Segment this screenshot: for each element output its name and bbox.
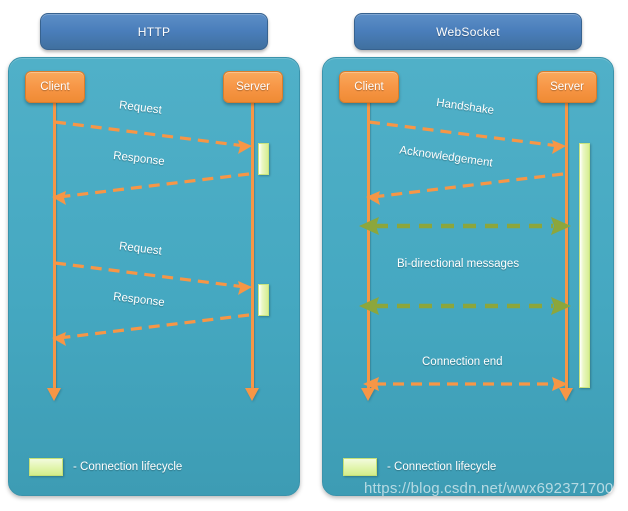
panel-websocket: WebSocket Client Server <box>314 0 628 511</box>
legend-label-http: - Connection lifecycle <box>73 461 182 473</box>
actor-client-websocket-label: Client <box>354 81 383 93</box>
panel-body-http: Client Server <box>8 57 300 496</box>
msg-head-ws-handshake <box>552 140 566 154</box>
legend-swatch-websocket <box>343 458 377 476</box>
messages-websocket <box>323 58 613 495</box>
actor-client-http: Client <box>25 71 85 103</box>
legend-label-websocket: - Connection lifecycle <box>387 461 496 473</box>
actor-client-websocket: Client <box>339 71 399 103</box>
msg-head-http-request-1 <box>238 140 252 154</box>
diagram-canvas: HTTP Client Server <box>0 0 628 511</box>
msg-line-http-response-1 <box>59 174 249 197</box>
legend-http: - Connection lifecycle <box>29 458 182 476</box>
legend-swatch-http <box>29 458 63 476</box>
msg-head-ws-connection-end-left <box>363 377 379 391</box>
watermark-url: https://blog.csdn.net/wwx692371700 <box>364 480 613 497</box>
panel-title-http: HTTP <box>40 13 268 50</box>
msg-line-http-request-1 <box>55 122 245 146</box>
msg-head-ws-acknowledgement <box>366 191 380 205</box>
msg-line-ws-handshake <box>369 122 559 146</box>
msg-line-ws-acknowledgement <box>373 174 563 197</box>
msg-line-http-response-2 <box>59 315 249 338</box>
actor-client-http-label: Client <box>40 81 69 93</box>
messages-http <box>9 58 299 495</box>
msg-head-ws-bidir-1-right <box>551 217 571 235</box>
msg-head-ws-bidir-1-left <box>359 217 379 235</box>
panel-body-websocket: Client Server <box>322 57 614 496</box>
actor-server-websocket: Server <box>537 71 597 103</box>
actor-server-http: Server <box>223 71 283 103</box>
legend-websocket: - Connection lifecycle <box>343 458 496 476</box>
msg-head-http-response-1 <box>52 191 66 205</box>
actor-server-websocket-label: Server <box>550 81 584 93</box>
msg-head-ws-bidir-2-right <box>551 297 571 315</box>
msg-head-ws-connection-end-right <box>552 377 568 391</box>
panel-title-websocket: WebSocket <box>354 13 582 50</box>
msg-head-ws-bidir-2-left <box>359 297 379 315</box>
actor-server-http-label: Server <box>236 81 270 93</box>
msg-head-http-request-2 <box>238 281 252 295</box>
msg-head-http-response-2 <box>52 332 66 346</box>
msg-label-ws-connection-end: Connection end <box>422 356 503 368</box>
msg-label-ws-bidirectional-messages: Bi-directional messages <box>397 258 519 270</box>
msg-line-http-request-2 <box>55 263 245 287</box>
panel-http: HTTP Client Server <box>0 0 314 511</box>
